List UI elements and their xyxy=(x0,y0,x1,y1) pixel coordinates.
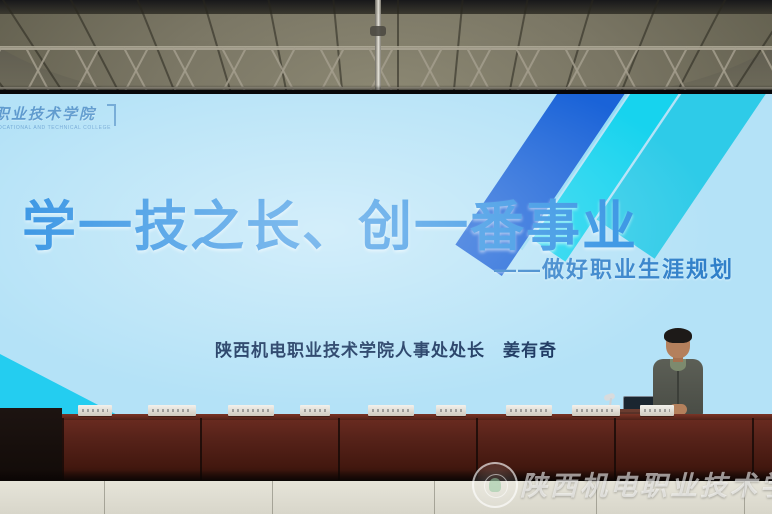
nameplate-text-line xyxy=(152,409,192,412)
slide-title: 学一技之长、创一番事业 xyxy=(22,182,638,261)
stage-panel-seam xyxy=(744,481,745,514)
stage-panel-seam xyxy=(272,481,273,514)
stage-panel-seam xyxy=(596,481,597,514)
college-logo-cn: 职业技术学院 xyxy=(0,106,120,123)
presenter-hair xyxy=(664,328,692,343)
logo-bracket xyxy=(107,104,116,126)
slide-subtitle: ——做好职业生涯规划 xyxy=(494,252,734,284)
college-logo: 职业技术学院 VOCATIONAL AND TECHNICAL COLLEGE xyxy=(0,106,120,131)
nameplate-text-line xyxy=(232,409,270,412)
nameplate-text-line xyxy=(510,409,548,412)
stage-panel-seam xyxy=(104,481,105,514)
nameplate-text-line xyxy=(440,409,462,412)
stage-panel-seam xyxy=(434,481,435,514)
nameplate-text-line xyxy=(576,409,616,412)
hall-ceiling xyxy=(0,0,772,95)
nameplate-text-line xyxy=(304,409,326,412)
stage-front-panel xyxy=(0,481,772,514)
nameplate-text-line xyxy=(372,409,410,412)
pole-bracket xyxy=(370,26,386,36)
nameplate-text-line xyxy=(82,409,108,412)
nameplate-text-line xyxy=(644,409,670,412)
screenshot-root: 职业技术学院 VOCATIONAL AND TECHNICAL COLLEGE … xyxy=(0,0,772,514)
suspended-pole xyxy=(375,0,381,95)
truss-top-chord xyxy=(0,48,772,50)
college-logo-en: VOCATIONAL AND TECHNICAL COLLEGE xyxy=(0,125,120,131)
